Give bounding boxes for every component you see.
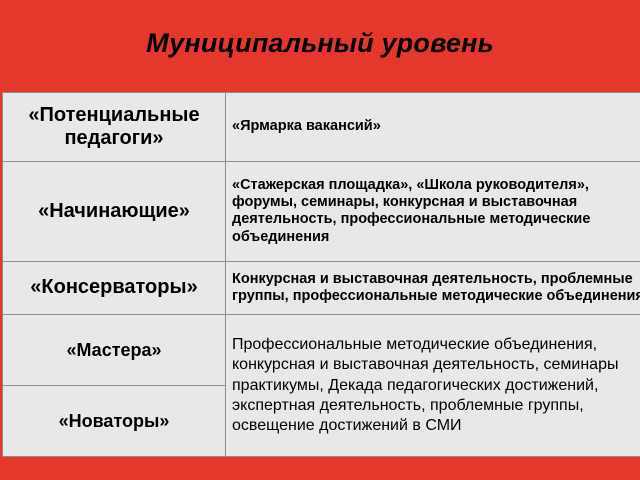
page-title: Муниципальный уровень (0, 26, 640, 60)
content-table-wrapper: «Потенциальные педагоги» «Ярмарка ваканс… (2, 92, 636, 457)
category-cell-masters: «Мастера» (3, 315, 226, 386)
category-cell-potential: «Потенциальные педагоги» (3, 93, 226, 162)
category-cell-conservatives: «Консерваторы» (3, 261, 226, 314)
content-table: «Потенциальные педагоги» «Ярмарка ваканс… (2, 92, 640, 457)
table-row: «Потенциальные педагоги» «Ярмарка ваканс… (3, 93, 640, 162)
description-cell-masters-innovators: Профессиональные методические объединени… (226, 315, 640, 457)
description-cell-beginners: «Стажерская площадка», «Школа руководите… (226, 161, 640, 261)
table-row: «Консерваторы» Конкурсная и выставочная … (3, 261, 640, 314)
table-row: «Мастера» Профессиональные методические … (3, 315, 640, 386)
category-cell-beginners: «Начинающие» (3, 161, 226, 261)
table-row: «Начинающие» «Стажерская площадка», «Шко… (3, 161, 640, 261)
slide: Муниципальный уровень «Потенциальные пед… (0, 0, 640, 480)
description-cell-conservatives: Конкурсная и выставочная деятельность, п… (226, 261, 640, 314)
category-cell-innovators: «Новаторы» (3, 386, 226, 457)
description-cell-potential: «Ярмарка вакансий» (226, 93, 640, 162)
